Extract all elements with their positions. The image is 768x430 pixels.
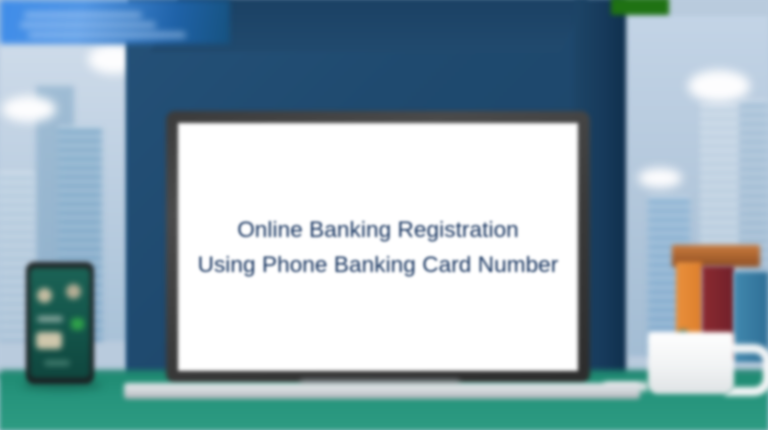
- phone-ui-badge: [71, 318, 84, 330]
- laptop-base: [124, 383, 640, 399]
- screen-title-line-2: Using Phone Banking Card Number: [198, 252, 559, 278]
- phone-ui-circle: [37, 288, 52, 303]
- illustration-scene: Online Banking Registration Using Phone …: [0, 0, 768, 430]
- cloud-left: [2, 96, 56, 122]
- coffee-mug: [648, 332, 734, 394]
- laptop: Online Banking Registration Using Phone …: [166, 111, 590, 383]
- banner-text-line: [28, 32, 186, 38]
- wall-green-strip: [611, 0, 669, 15]
- phone-ui-bar: [44, 360, 70, 366]
- screen-title-line-1: Online Banking Registration: [237, 217, 519, 243]
- cloud-right: [688, 70, 750, 102]
- banner-text-line: [20, 22, 156, 28]
- cloud-right-low: [638, 168, 682, 188]
- phone-ui-bar: [37, 316, 63, 322]
- phone-ui-card: [36, 332, 62, 349]
- banner-text-line: [24, 12, 142, 18]
- laptop-screen-content: Online Banking Registration Using Phone …: [178, 123, 578, 371]
- phone-ui-circle: [66, 284, 81, 299]
